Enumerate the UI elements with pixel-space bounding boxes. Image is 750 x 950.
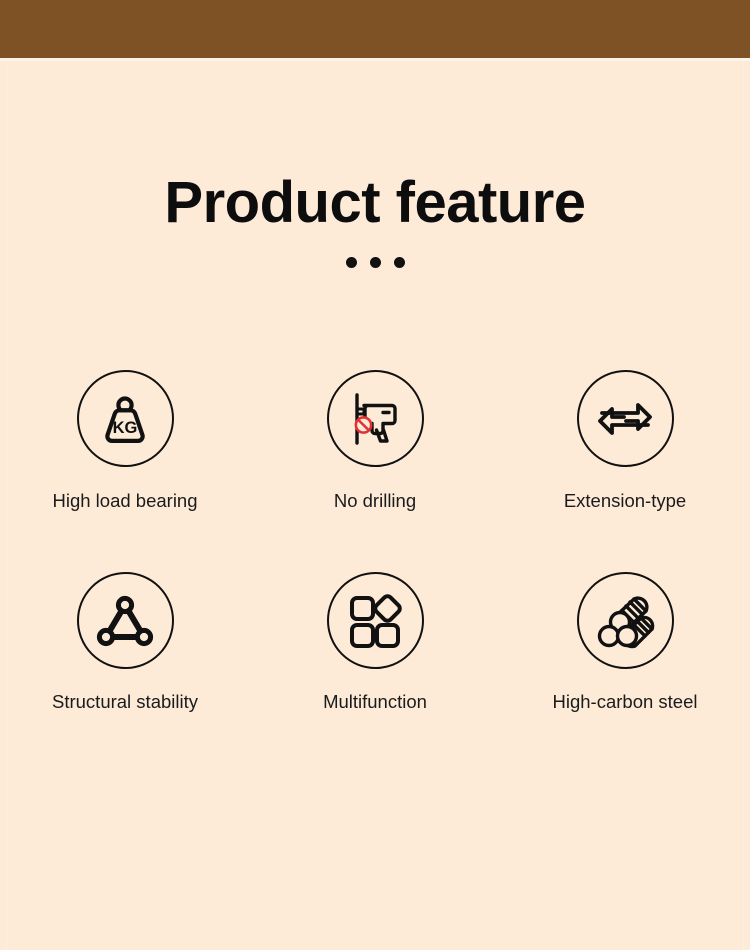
feature-label: Multifunction bbox=[323, 691, 427, 713]
kg-icon-text: KG bbox=[113, 419, 138, 437]
feature-item: Structural stability bbox=[0, 572, 250, 713]
top-accent-bar bbox=[0, 0, 750, 58]
feature-item: Extension-type bbox=[500, 370, 750, 512]
feature-grid: KG High load bearing bbox=[0, 370, 750, 713]
feature-item: KG High load bearing bbox=[0, 370, 250, 512]
no-drilling-icon bbox=[327, 370, 424, 467]
feature-item: Multifunction bbox=[250, 572, 500, 713]
kg-weight-icon: KG bbox=[77, 370, 174, 467]
header: Product feature bbox=[0, 170, 750, 268]
product-feature-page: Product feature KG High load bearing bbox=[0, 0, 750, 950]
accent-bar-seam bbox=[0, 58, 750, 61]
feature-label: High load bearing bbox=[52, 490, 197, 512]
page-title: Product feature bbox=[0, 170, 750, 237]
divider-dot bbox=[346, 257, 357, 268]
triangle-nodes-icon bbox=[77, 572, 174, 669]
feature-label: Extension-type bbox=[564, 490, 686, 512]
feature-item: No drilling bbox=[250, 370, 500, 512]
divider-dots bbox=[0, 257, 750, 268]
divider-dot bbox=[394, 257, 405, 268]
feature-label: No drilling bbox=[334, 490, 416, 512]
feature-label: Structural stability bbox=[52, 691, 198, 713]
feature-label: High-carbon steel bbox=[553, 691, 698, 713]
bidirectional-arrow-icon bbox=[577, 370, 674, 467]
multi-shapes-icon bbox=[327, 572, 424, 669]
feature-item: High-carbon steel bbox=[500, 572, 750, 713]
divider-dot bbox=[370, 257, 381, 268]
steel-bars-icon bbox=[577, 572, 674, 669]
